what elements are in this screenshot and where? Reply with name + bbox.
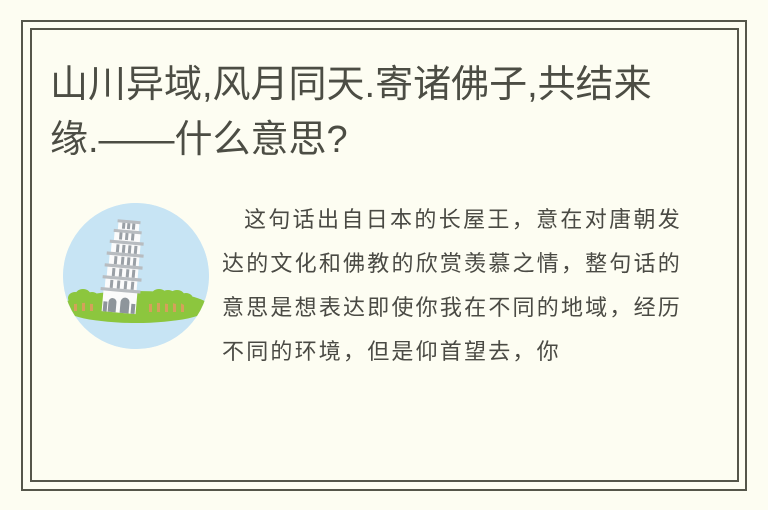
- question-title: 山川异域,风月同天.寄诸佛子,共结来缘.——什么意思?: [50, 58, 690, 168]
- card-content: 山川异域,风月同天.寄诸佛子,共结来缘.——什么意思?: [32, 30, 737, 480]
- answer-body-text: 这句话出自日本的长屋王，意在对唐朝发达的文化和佛教的欣赏羡慕之情，整句话的意思是…: [222, 198, 682, 374]
- leaning-tower-of-pisa-icon: [63, 203, 209, 349]
- answer-block: 这句话出自日本的长屋王，意在对唐朝发达的文化和佛教的欣赏羡慕之情，整句话的意思是…: [32, 198, 737, 480]
- answer-card-page: 山川异域,风月同天.寄诸佛子,共结来缘.——什么意思?: [0, 0, 768, 510]
